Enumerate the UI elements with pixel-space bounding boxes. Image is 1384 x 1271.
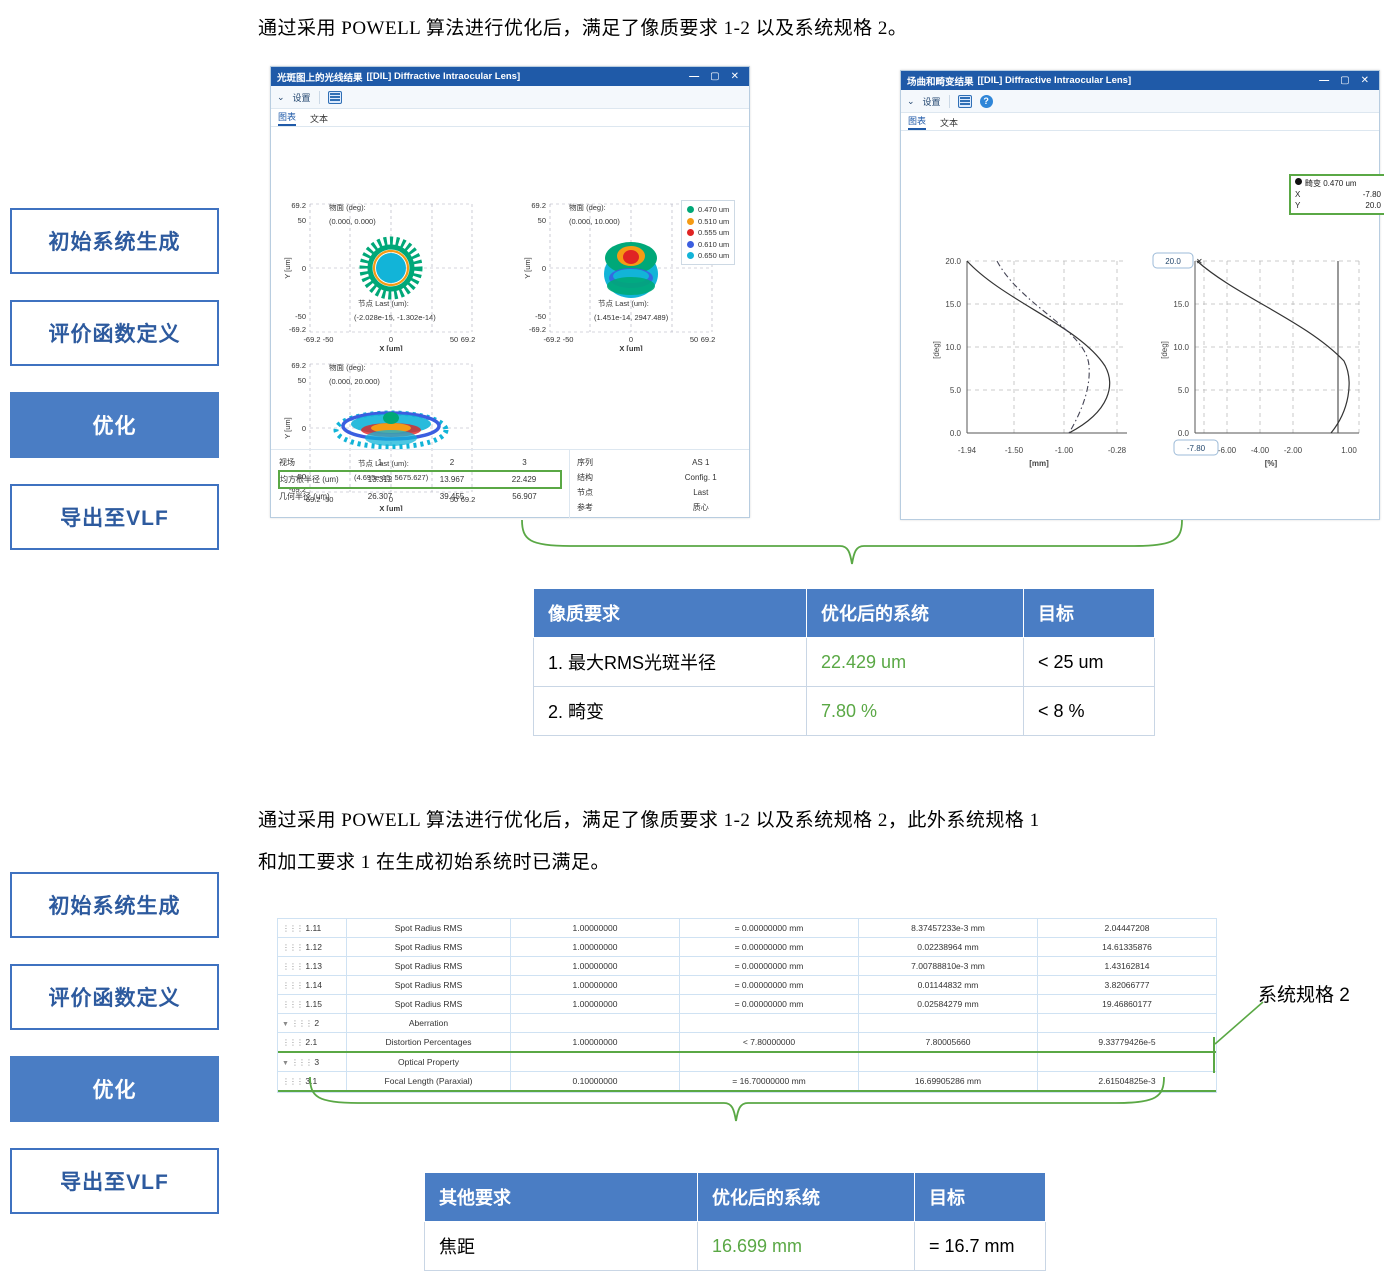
plot1-xtick: -69.2 (303, 335, 320, 344)
flow-step-optimization[interactable]: 优化 (10, 1056, 219, 1122)
flow-step-label: 导出至VLF (60, 502, 169, 532)
mf-row-target (680, 1052, 859, 1072)
cell-result: 22.429 um (807, 638, 1024, 687)
plot3-ylabel: Y [um] (283, 417, 292, 439)
th-result: 优化后的系统 (807, 589, 1024, 638)
stats-cell: 26.307 (344, 488, 416, 504)
tab-chart[interactable]: 图表 (908, 114, 926, 130)
settings-label[interactable]: 设置 (293, 91, 311, 104)
mf-row-id: 2.1 (305, 1037, 317, 1047)
paragraph-2-line-1: 通过采用 POWELL 算法进行优化后，满足了像质要求 1-2 以及系统规格 2… (258, 800, 1383, 842)
mf-row-weight: 1.00000000 (511, 938, 680, 957)
dist-xlabel: [%] (1265, 459, 1278, 468)
mf-row-id: 2 (314, 1018, 319, 1028)
plot1-xtick: 50 (450, 335, 458, 344)
table-row: ⋮⋮⋮ 1.13 Spot Radius RMS 1.00000000 = 0.… (278, 957, 1216, 976)
fc-xlabel: [mm] (1029, 459, 1049, 468)
plot2-node-value: (1.451e-14, 2947.489) (594, 313, 669, 322)
fc-plots-container: 20.0 15.0 10.0 5.0 0.0 [deg] -1.94 -1.50… (901, 131, 1379, 519)
flow-step-label: 优化 (93, 410, 137, 440)
plot2-ytick: 0 (542, 264, 546, 273)
info-row-reference: 参考质心 (577, 500, 742, 515)
spot-stats-table: 视场 1 2 3 均方根半径 (um) 13.312 13.967 22.429… (278, 455, 562, 504)
fc-xtick: -1.00 (1055, 446, 1074, 455)
table-header-row: 视场 1 2 3 (279, 455, 561, 471)
stats-row-label: 均方根半径 (um) (279, 471, 344, 488)
brace-connector-bottom (300, 1075, 1180, 1145)
info-key: 序列 (577, 455, 660, 470)
mf-row-contribution (1038, 1014, 1217, 1033)
tooltip-value: 20.0 (1365, 200, 1381, 211)
cell-target: = 16.7 mm (915, 1222, 1046, 1271)
plot2-field-label: 物面 (deg): (569, 202, 606, 212)
plot3-ytick: 69.2 (291, 361, 306, 370)
drag-handle-icon[interactable]: ⋮⋮⋮ (291, 1019, 312, 1028)
plot2-node-label: 节点 Last (um): (598, 299, 649, 308)
window-spot-title-en: [[DIL] Diffractive Intraocular Lens] (367, 71, 521, 82)
mf-row-target: = 0.00000000 mm (680, 957, 859, 976)
mf-row-target: < 7.80000000 (680, 1033, 859, 1053)
window-fc-title-en: [[DIL] Diffractive Intraocular Lens] (978, 75, 1132, 86)
flow-step-merit-function[interactable]: 评价函数定义 (10, 964, 219, 1030)
legend-color-dot (687, 218, 694, 225)
tooltip-title: 畸变 0.470 um (1305, 178, 1381, 189)
dist-ylabel: [deg] (1160, 341, 1169, 359)
stats-header-col1: 1 (344, 455, 416, 471)
drag-handle-icon[interactable]: ⋮⋮⋮ (282, 924, 303, 933)
mf-row-target: = 0.00000000 mm (680, 995, 859, 1014)
fc-ytick: 0.0 (950, 429, 962, 438)
chevron-down-icon[interactable]: ⌄ (277, 92, 285, 103)
flow-step-merit-function[interactable]: 评价函数定义 (10, 300, 219, 366)
cell-target: < 25 um (1024, 638, 1155, 687)
cell-result: 7.80 % (807, 687, 1024, 736)
mf-row-id: 1.13 (305, 961, 322, 971)
mf-row-type: Distortion Percentages (347, 1033, 511, 1053)
text-view-icon[interactable] (328, 91, 342, 104)
brace-connector-top (510, 518, 1190, 588)
mf-row-weight: 1.00000000 (511, 976, 680, 995)
paragraph-1: 通过采用 POWELL 算法进行优化后，满足了像质要求 1-2 以及系统规格 2… (258, 8, 1378, 50)
legend-item: 0.650 um (687, 251, 729, 260)
spot-plot-field-1: 69.2 50 0 -50 -69.2 Y [um] -69.2 -50 0 5… (276, 186, 516, 351)
plot3-ytick: 50 (298, 376, 306, 385)
drag-handle-icon[interactable]: ⋮⋮⋮ (282, 943, 303, 952)
tooltip-title-row: 畸变 0.470 um (1295, 178, 1381, 189)
window-spot-toolbar[interactable]: ⌄ 设置 (271, 86, 749, 109)
info-row-surface: 节点Last (577, 485, 742, 500)
mf-row-contribution: 2.04447208 (1038, 919, 1217, 938)
fc-ytick: 15.0 (945, 300, 961, 309)
legend-color-dot (687, 206, 694, 213)
legend-color-dot (687, 229, 694, 236)
flow-steps-bottom: 初始系统生成 评价函数定义 优化 导出至VLF (10, 872, 219, 1214)
spot-stats-panel: 视场 1 2 3 均方根半径 (um) 13.312 13.967 22.429… (271, 449, 749, 518)
tab-text[interactable]: 文本 (940, 116, 958, 130)
stats-cell: 39.455 (416, 488, 488, 504)
plot2-xtick: 50 (690, 335, 698, 344)
dist-x-marker-badge: -7.80 (1174, 440, 1218, 455)
flow-step-label: 优化 (93, 1074, 137, 1104)
paragraph-2-line-2: 和加工要求 1 在生成初始系统时已满足。 (258, 842, 1383, 884)
plot2-xtick: 69.2 (701, 335, 716, 344)
merit-function-table: ⋮⋮⋮ 1.11 Spot Radius RMS 1.00000000 = 0.… (278, 919, 1216, 1092)
stats-cell: 22.429 (488, 471, 561, 488)
mf-row-contribution: 14.61335876 (1038, 938, 1217, 957)
window-spot-title-cjk: 光斑图上的光线结果 (277, 70, 363, 84)
plot1-ylabel: Y [um] (283, 257, 292, 279)
plot2-ytick: -69.2 (529, 325, 546, 334)
mf-row-target (680, 1014, 859, 1033)
dist-ytick: 0.0 (1178, 429, 1190, 438)
mf-row-value: 7.80005660 (859, 1033, 1038, 1053)
wavelength-legend: 0.470 um 0.510 um 0.555 um 0.610 um 0.65… (681, 200, 735, 265)
tab-text[interactable]: 文本 (310, 112, 328, 126)
maximize-icon[interactable]: ▢ (710, 71, 719, 82)
window-field-curvature[interactable]: 场曲和畸变结果 [[DIL] Diffractive Intraocular L… (900, 70, 1380, 520)
stats-header-col2: 2 (416, 455, 488, 471)
table-header-row: 像质要求 优化后的系统 目标 (534, 589, 1155, 638)
mf-row-target: = 0.00000000 mm (680, 976, 859, 995)
legend-item: 0.555 um (687, 228, 729, 237)
info-value: AS 1 (660, 455, 743, 470)
window-fc-title-bar[interactable]: 场曲和畸变结果 [[DIL] Diffractive Intraocular L… (901, 71, 1379, 90)
plot3-field-value: (0.000, 20.000) (329, 377, 380, 386)
mf-row-weight (511, 1014, 680, 1033)
close-icon[interactable]: ✕ (731, 71, 739, 82)
table-row: 2. 畸变 7.80 % < 8 % (534, 687, 1155, 736)
plot3-field-label: 物面 (deg): (329, 362, 366, 372)
flow-step-label: 初始系统生成 (49, 890, 181, 920)
minimize-icon[interactable]: — (689, 71, 699, 82)
mf-row-weight: 1.00000000 (511, 957, 680, 976)
plot2-ylabel: Y [um] (523, 257, 532, 279)
window-spot-diagram[interactable]: 光斑图上的光线结果 [[DIL] Diffractive Intraocular… (270, 66, 750, 518)
legend-color-dot (687, 252, 694, 259)
stats-header-field: 视场 (279, 455, 344, 471)
drag-handle-icon[interactable]: ⋮⋮⋮ (282, 1000, 303, 1009)
mf-row-weight: 1.00000000 (511, 919, 680, 938)
stats-cell: 56.907 (488, 488, 561, 504)
plot1-ytick: 69.2 (291, 201, 306, 210)
mf-row-type: Spot Radius RMS (347, 938, 511, 957)
toolbar-divider (319, 91, 320, 104)
table-row: 1. 最大RMS光斑半径 22.429 um < 25 um (534, 638, 1155, 687)
plot1-field-value: (0.000, 0.000) (329, 217, 376, 226)
info-key: 结构 (577, 470, 660, 485)
plot2-xlabel: X [um] (619, 344, 643, 351)
table-row: ⋮⋮⋮ 1.11 Spot Radius RMS 1.00000000 = 0.… (278, 919, 1216, 938)
plot2-spot-pattern (604, 242, 658, 298)
fc-xtick: -1.94 (958, 446, 977, 455)
mf-row-value: 0.02238964 mm (859, 938, 1038, 957)
flow-step-label: 评价函数定义 (49, 982, 181, 1012)
chevron-down-icon[interactable]: ⌄ (907, 96, 915, 107)
info-value: Last (660, 485, 743, 500)
mf-row-contribution: 1.43162814 (1038, 957, 1217, 976)
legend-label: 0.650 um (698, 251, 729, 260)
mf-row-type: Spot Radius RMS (347, 919, 511, 938)
close-icon[interactable]: ✕ (1361, 75, 1369, 86)
cell-requirement: 2. 畸变 (534, 687, 807, 736)
table-row-group: ▼⋮⋮⋮ 2 Aberration (278, 1014, 1216, 1033)
mf-row-value: 7.00788810e-3 mm (859, 957, 1038, 976)
flow-step-export-vlf[interactable]: 导出至VLF (10, 1148, 219, 1214)
paragraph-2: 通过采用 POWELL 算法进行优化后，满足了像质要求 1-2 以及系统规格 2… (258, 800, 1383, 884)
table-row-geometric-radius: 几何半径 (um) 26.307 39.455 56.907 (279, 488, 561, 504)
dist-xtick: -4.00 (1251, 446, 1270, 455)
tooltip-row-x: X -7.80 (1295, 189, 1381, 200)
plot1-node-label: 节点 Last (um): (358, 299, 409, 308)
mf-row-weight (511, 1052, 680, 1072)
legend-item: 0.610 um (687, 240, 729, 249)
plot2-xtick: 0 (629, 335, 633, 344)
distortion-tooltip: 畸变 0.470 um X -7.80 Y 20.0 (1289, 174, 1384, 215)
tab-chart[interactable]: 图表 (278, 110, 296, 126)
spec2-leader-line (1205, 1000, 1275, 1050)
legend-label: 0.470 um (698, 205, 729, 214)
annotation-spec2: 系统规格 2 (1258, 980, 1350, 1007)
mf-row-weight: 1.00000000 (511, 1033, 680, 1053)
mf-row-value (859, 1014, 1038, 1033)
spot-info-panel: 序列AS 1 结构Config. 1 节点Last 参考质心 (569, 450, 749, 518)
merit-function-editor[interactable]: ⋮⋮⋮ 1.11 Spot Radius RMS 1.00000000 = 0.… (277, 918, 1217, 1093)
toolbar-divider (949, 95, 950, 108)
tooltip-key: X (1295, 189, 1300, 200)
plot2-ytick: 69.2 (531, 201, 546, 210)
table-image-quality: 像质要求 优化后的系统 目标 1. 最大RMS光斑半径 22.429 um < … (533, 588, 1155, 736)
drag-handle-icon[interactable]: ⋮⋮⋮ (291, 1058, 312, 1067)
stats-cell: 13.312 (344, 471, 416, 488)
stats-row-label: 几何半径 (um) (279, 488, 344, 504)
mf-row-contribution (1038, 1052, 1217, 1072)
tooltip-key: Y (1295, 200, 1300, 211)
info-row-sequence: 序列AS 1 (577, 455, 742, 470)
spot-stats-table-wrap: 视场 1 2 3 均方根半径 (um) 13.312 13.967 22.429… (271, 450, 569, 518)
settings-label[interactable]: 设置 (923, 95, 941, 108)
mf-row-value (859, 1052, 1038, 1072)
legend-label: 0.510 um (698, 217, 729, 226)
mf-row-contribution: 3.82066777 (1038, 976, 1217, 995)
plot2-xtick: -50 (563, 335, 574, 344)
dist-xtick: -6.00 (1218, 446, 1237, 455)
flow-step-export-vlf[interactable]: 导出至VLF (10, 484, 219, 550)
drag-handle-icon[interactable]: ⋮⋮⋮ (282, 962, 303, 971)
mf-row-id: 1.14 (305, 980, 322, 990)
table-row: ⋮⋮⋮ 2.1 Distortion Percentages 1.0000000… (278, 1033, 1216, 1053)
drag-handle-icon[interactable]: ⋮⋮⋮ (282, 1038, 303, 1047)
table-other-requirements: 其他要求 优化后的系统 目标 焦距 16.699 mm = 16.7 mm (424, 1172, 1046, 1271)
cell-target: < 8 % (1024, 687, 1155, 736)
th-target: 目标 (1024, 589, 1155, 638)
window-fc-toolbar[interactable]: ⌄ 设置 ? (901, 90, 1379, 113)
tooltip-marker-dot (1295, 178, 1302, 185)
cell-result: 16.699 mm (698, 1222, 915, 1271)
table-row: ⋮⋮⋮ 1.14 Spot Radius RMS 1.00000000 = 0.… (278, 976, 1216, 995)
flow-step-label: 初始系统生成 (49, 226, 181, 256)
plot1-ytick: -50 (295, 312, 306, 321)
plot1-field-label: 物面 (deg): (329, 202, 366, 212)
info-key: 参考 (577, 500, 660, 515)
mf-row-type: Spot Radius RMS (347, 976, 511, 995)
flow-step-initial-system[interactable]: 初始系统生成 (10, 208, 219, 274)
plot1-spot-pattern (364, 241, 418, 295)
dist-ytick: 15.0 (1173, 300, 1189, 309)
plot-field-curvature: 20.0 15.0 10.0 5.0 0.0 [deg] -1.94 -1.50… (909, 206, 1139, 496)
plot2-ytick: -50 (535, 312, 546, 321)
fc-tangential-curve (967, 261, 1110, 433)
table-row: 焦距 16.699 mm = 16.7 mm (425, 1222, 1046, 1271)
table-row-rms-radius: 均方根半径 (um) 13.312 13.967 22.429 (279, 471, 561, 488)
dist-crosshair-icon: ✕ (1196, 257, 1203, 266)
stats-header-col3: 3 (488, 455, 561, 471)
table-row: ⋮⋮⋮ 1.12 Spot Radius RMS 1.00000000 = 0.… (278, 938, 1216, 957)
dist-marker-y: 20.0 (1165, 257, 1181, 266)
cell-requirement: 焦距 (425, 1222, 698, 1271)
mf-row-type: Aberration (347, 1014, 511, 1033)
mf-row-weight: 1.00000000 (511, 995, 680, 1014)
plot-distortion: 15.0 10.0 5.0 0.0 [deg] -6.00 -4.00 -2.0… (1141, 206, 1371, 496)
plot1-xtick: 0 (389, 335, 393, 344)
legend-color-dot (687, 241, 694, 248)
mf-row-contribution: 9.33779426e-5 (1038, 1033, 1217, 1053)
fc-xtick: -0.28 (1108, 446, 1127, 455)
mf-row-value: 0.01144832 mm (859, 976, 1038, 995)
collapse-caret-icon[interactable]: ▼ (282, 1060, 289, 1067)
tooltip-value: -7.80 (1363, 189, 1381, 200)
legend-item: 0.470 um (687, 205, 729, 214)
window-fc-title-cjk: 场曲和畸变结果 (907, 74, 974, 88)
fc-ytick: 20.0 (945, 257, 961, 266)
tooltip-row-y: Y 20.0 (1295, 200, 1381, 211)
plot1-ytick: -69.2 (289, 325, 306, 334)
window-fc-tabs[interactable]: 图表 文本 (901, 113, 1379, 131)
legend-label: 0.555 um (698, 228, 729, 237)
collapse-caret-icon[interactable]: ▼ (282, 1021, 289, 1028)
fc-ylabel: [deg] (932, 341, 941, 359)
minimize-icon[interactable]: — (1319, 75, 1329, 86)
table-row: ⋮⋮⋮ 1.15 Spot Radius RMS 1.00000000 = 0.… (278, 995, 1216, 1014)
info-key: 节点 (577, 485, 660, 500)
window-spot-tabs[interactable]: 图表 文本 (271, 109, 749, 127)
spot-info-table: 序列AS 1 结构Config. 1 节点Last 参考质心 (577, 455, 742, 515)
mf-row-value: 0.02584279 mm (859, 995, 1038, 1014)
fc-ytick: 5.0 (950, 386, 962, 395)
mf-row-id: 1.15 (305, 999, 322, 1009)
mf-row-id: 3 (314, 1057, 319, 1067)
plot2-field-value: (0.000, 10.000) (569, 217, 620, 226)
plot2-ytick: 50 (538, 216, 546, 225)
text-view-icon[interactable] (958, 95, 972, 108)
dist-xtick: -2.00 (1284, 446, 1303, 455)
flow-step-optimization[interactable]: 优化 (10, 392, 219, 458)
mf-row-contribution: 19.46860177 (1038, 995, 1217, 1014)
mf-row-value: 8.37457233e-3 mm (859, 919, 1038, 938)
mf-row-target: = 0.00000000 mm (680, 919, 859, 938)
legend-item: 0.510 um (687, 217, 729, 226)
mf-row-id: 1.12 (305, 942, 322, 952)
annotation-spec2-label: 系统规格 2 (1258, 985, 1350, 1006)
fc-ytick: 10.0 (945, 343, 961, 352)
mf-row-type: Optical Property (347, 1052, 511, 1072)
dist-marker-x: -7.80 (1187, 444, 1206, 453)
mf-row-type: Spot Radius RMS (347, 957, 511, 976)
mf-row-target: = 0.00000000 mm (680, 938, 859, 957)
dist-y-marker-badge: 20.0 (1153, 253, 1193, 268)
stats-cell: 13.967 (416, 471, 488, 488)
legend-label: 0.610 um (698, 240, 729, 249)
mf-row-type: Spot Radius RMS (347, 995, 511, 1014)
plot3-spot-pattern (336, 412, 446, 447)
dist-xtick: 1.00 (1341, 446, 1357, 455)
plot1-xtick: 69.2 (461, 335, 476, 344)
th-requirement: 像质要求 (534, 589, 807, 638)
th-target: 目标 (915, 1173, 1046, 1222)
info-value: Config. 1 (660, 470, 743, 485)
fc-xtick: -1.50 (1005, 446, 1024, 455)
plot1-node-value: (-2.028e-15, -1.302e-14) (354, 313, 436, 322)
flow-step-initial-system[interactable]: 初始系统生成 (10, 872, 219, 938)
paragraph-1-text: 通过采用 POWELL 算法进行优化后，满足了像质要求 1-2 以及系统规格 2… (258, 18, 907, 39)
th-result: 优化后的系统 (698, 1173, 915, 1222)
th-requirement: 其他要求 (425, 1173, 698, 1222)
info-value: 质心 (660, 500, 743, 515)
window-spot-title-bar[interactable]: 光斑图上的光线结果 [[DIL] Diffractive Intraocular… (271, 67, 749, 86)
flow-step-label: 导出至VLF (60, 1166, 169, 1196)
flow-steps-top: 初始系统生成 评价函数定义 优化 导出至VLF (10, 208, 219, 550)
plot1-ytick: 0 (302, 264, 306, 273)
cell-requirement: 1. 最大RMS光斑半径 (534, 638, 807, 687)
plot2-xtick: -69.2 (543, 335, 560, 344)
maximize-icon[interactable]: ▢ (1340, 75, 1349, 86)
help-icon[interactable]: ? (980, 95, 993, 108)
dist-ytick: 5.0 (1178, 386, 1190, 395)
table-header-row: 其他要求 优化后的系统 目标 (425, 1173, 1046, 1222)
plot1-xtick: -50 (323, 335, 334, 344)
plot1-ytick: 50 (298, 216, 306, 225)
table-row-group: ▼⋮⋮⋮ 3 Optical Property (278, 1052, 1216, 1072)
mf-row-id: 1.11 (305, 923, 321, 933)
drag-handle-icon[interactable]: ⋮⋮⋮ (282, 981, 303, 990)
plot3-ytick: 0 (302, 424, 306, 433)
dist-ytick: 10.0 (1173, 343, 1189, 352)
flow-step-label: 评价函数定义 (49, 318, 181, 348)
info-row-config: 结构Config. 1 (577, 470, 742, 485)
